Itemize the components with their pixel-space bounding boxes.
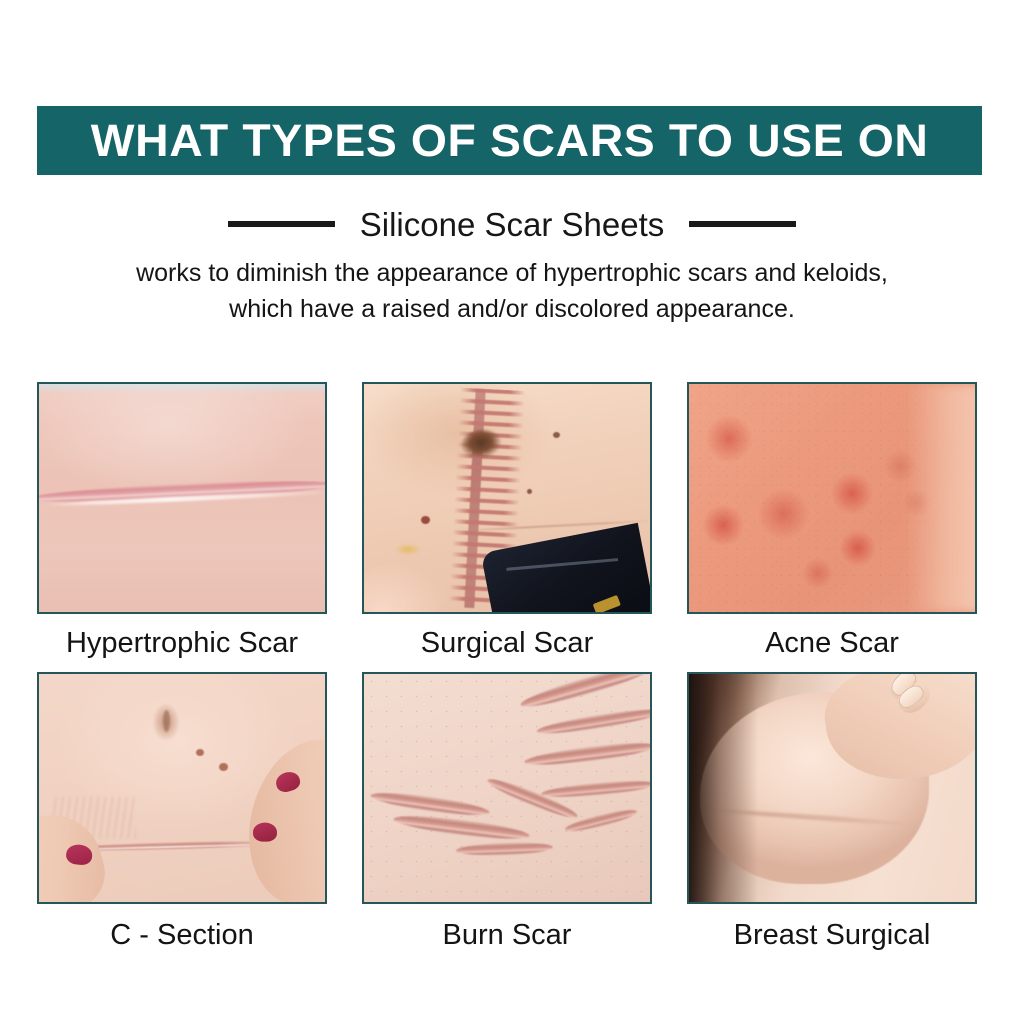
rule-right-decoration bbox=[689, 221, 796, 227]
defocus-region bbox=[906, 384, 975, 612]
c-section-scar-photo-frame bbox=[37, 672, 327, 904]
acne-scar-photo-frame bbox=[687, 382, 977, 614]
description-line-2: which have a raised and/or discolored ap… bbox=[62, 292, 962, 328]
scar-tile-burn: Burn Scar bbox=[362, 672, 652, 952]
tile-caption-hypertrophic: Hypertrophic Scar bbox=[37, 628, 327, 660]
product-subtitle: Silicone Scar Sheets bbox=[360, 208, 665, 241]
acne-scar-photo bbox=[689, 384, 975, 612]
skin-mark-2 bbox=[527, 489, 532, 494]
breast-surgical-scar-photo-frame bbox=[687, 672, 977, 904]
skin-sheen bbox=[39, 384, 325, 612]
hypertrophic-scar-photo-frame bbox=[37, 382, 327, 614]
scar-tile-c-section: C - Section bbox=[37, 672, 327, 952]
tile-caption-burn: Burn Scar bbox=[362, 920, 652, 952]
right-hand bbox=[234, 727, 325, 902]
tile-caption-surgical: Surgical Scar bbox=[362, 628, 652, 660]
scar-tile-surgical: Surgical Scar bbox=[362, 382, 652, 660]
hypertrophic-scar-photo bbox=[39, 384, 325, 612]
shadow-region bbox=[689, 674, 758, 902]
subtitle-row: Silicone Scar Sheets bbox=[0, 203, 1024, 245]
c-section-scar-photo bbox=[39, 674, 325, 902]
skin-mark-3 bbox=[421, 516, 430, 524]
banner-title: WHAT TYPES OF SCARS TO USE ON bbox=[91, 118, 929, 163]
skin-mark-2 bbox=[219, 763, 228, 771]
tile-caption-acne: Acne Scar bbox=[687, 628, 977, 660]
tile-caption-c-section: C - Section bbox=[37, 920, 327, 952]
burn-scar-photo bbox=[364, 674, 650, 902]
scar-tile-acne: Acne Scar bbox=[687, 382, 977, 660]
thigh-highlight bbox=[364, 562, 450, 612]
surgical-scar-photo bbox=[364, 384, 650, 612]
surgical-scar-photo-frame bbox=[362, 382, 652, 614]
scar-tile-hypertrophic: Hypertrophic Scar bbox=[37, 382, 327, 660]
fingernail-polish-1 bbox=[273, 770, 301, 795]
breast-surgical-scar-photo bbox=[689, 674, 975, 902]
scar-type-grid: Hypertrophic Scar bbox=[37, 382, 977, 952]
skin-mark-1 bbox=[196, 749, 204, 756]
jeans-label bbox=[592, 595, 620, 612]
infographic-page: WHAT TYPES OF SCARS TO USE ON Silicone S… bbox=[0, 0, 1024, 1024]
header-banner: WHAT TYPES OF SCARS TO USE ON bbox=[37, 106, 982, 175]
scar-tile-breast-surgical: Breast Surgical bbox=[687, 672, 977, 952]
rule-left-decoration bbox=[228, 221, 335, 227]
tile-caption-breast-surgical: Breast Surgical bbox=[687, 920, 977, 952]
description-line-1: works to diminish the appearance of hype… bbox=[62, 256, 962, 292]
description-paragraph: works to diminish the appearance of hype… bbox=[62, 256, 962, 327]
bruise-mark bbox=[395, 544, 421, 555]
burn-scar-photo-frame bbox=[362, 672, 652, 904]
navel bbox=[153, 704, 179, 740]
fingernail-polish-2 bbox=[252, 823, 276, 842]
skin-mark-1 bbox=[553, 432, 560, 438]
fingernail-polish bbox=[65, 844, 93, 867]
